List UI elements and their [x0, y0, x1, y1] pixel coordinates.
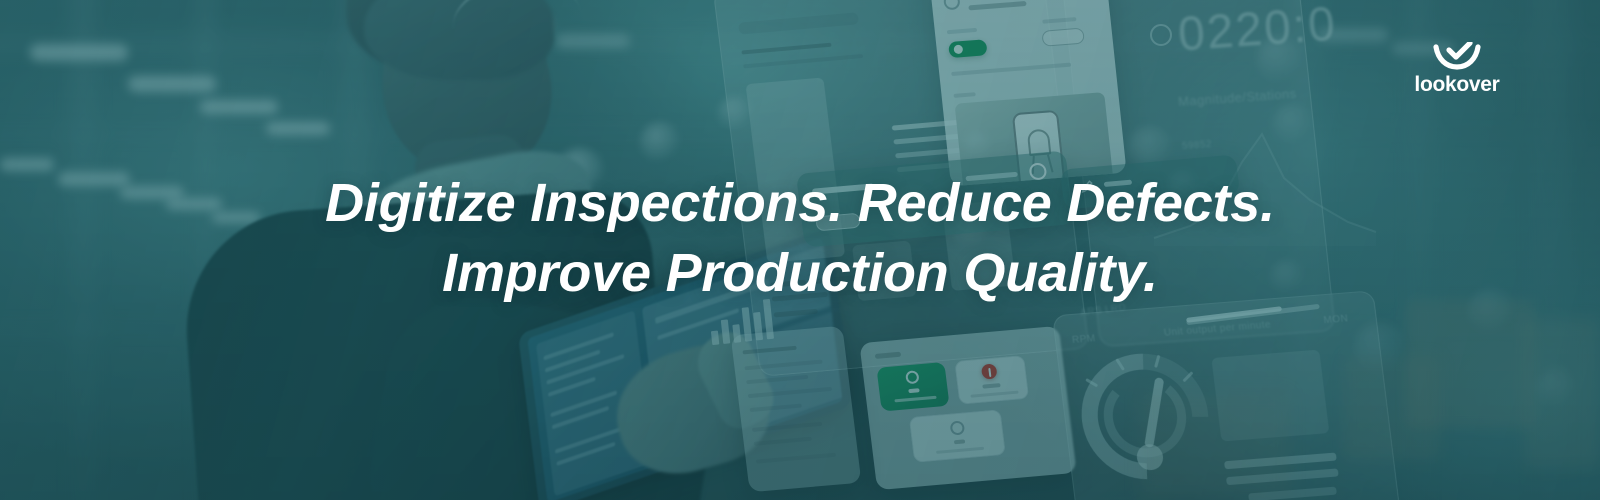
headline-line-2: Improve Production Quality.	[0, 238, 1600, 308]
hero-content: Digitize Inspections. Reduce Defects. Im…	[0, 0, 1600, 500]
brand-logo[interactable]: lookover	[1392, 42, 1522, 95]
headline-line-1: Digitize Inspections. Reduce Defects.	[0, 168, 1600, 238]
hero-banner: 0220:0 Magnitude/Stations 59852	[0, 0, 1600, 500]
brand-wordmark: lookover	[1392, 74, 1522, 95]
page-title: Digitize Inspections. Reduce Defects. Im…	[0, 168, 1600, 308]
check-chevron-icon	[1432, 42, 1482, 70]
